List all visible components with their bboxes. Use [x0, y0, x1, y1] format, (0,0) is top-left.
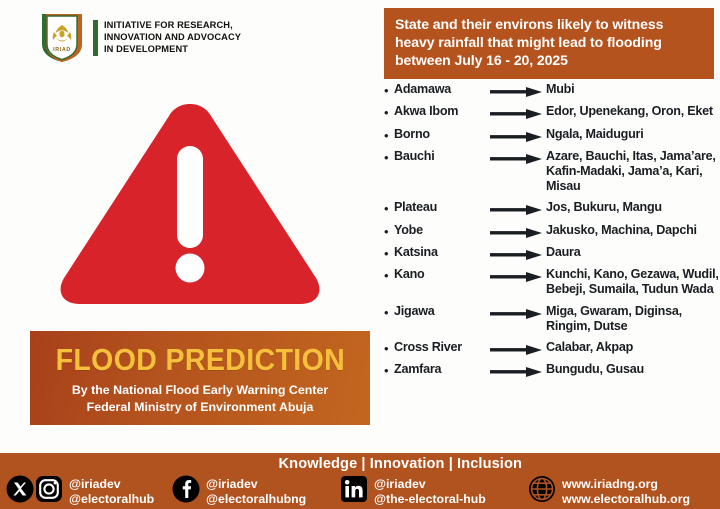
state-name: Zamfara	[394, 362, 490, 377]
social-group[interactable]: @iriadev@the-electoral-hub	[340, 475, 486, 508]
arrow-right-icon	[490, 304, 546, 319]
globe-icon[interactable]	[528, 475, 556, 508]
arrow-right-icon	[490, 200, 546, 215]
town-list: Miga, Gwaram, Diginsa, Ringim, Dutse	[546, 304, 720, 334]
state-row: •AdamawaMubi	[384, 82, 720, 98]
town-list: Azare, Bauchi, Itas, Jama’are, Kafin-Mad…	[546, 149, 720, 194]
social-group[interactable]: @iriadev@electoralhubng	[172, 475, 306, 508]
arrow-right-icon	[490, 149, 546, 164]
state-row: •ZamfaraBungudu, Gusau	[384, 362, 720, 378]
footer-bar: Knowledge | Innovation | Inclusion @iria…	[0, 453, 720, 509]
state-row: •JigawaMiga, Gwaram, Diginsa, Ringim, Du…	[384, 304, 720, 334]
social-handles[interactable]: @iriadev@the-electoral-hub	[374, 477, 486, 507]
social-handles[interactable]: www.iriadng.orgwww.electoralhub.org	[562, 477, 690, 507]
social-icons[interactable]	[528, 475, 556, 508]
state-name: Jigawa	[394, 304, 490, 319]
instagram-icon[interactable]	[35, 475, 63, 508]
state-row: •Cross RiverCalabar, Akpap	[384, 340, 720, 356]
state-name: Cross River	[394, 340, 490, 355]
list-bullet: •	[384, 340, 394, 356]
town-list: Kunchi, Kano, Gezawa, Wudil, Bebeji, Sum…	[546, 267, 720, 297]
warning-illustration	[40, 88, 340, 320]
list-bullet: •	[384, 127, 394, 143]
green-accent-bar	[93, 20, 98, 56]
arrow-right-icon	[490, 223, 546, 238]
brand-header: IRIAD INITIATIVE FOR RESEARCH, INNOVATIO…	[40, 12, 241, 64]
social-handle-primary[interactable]: @iriadev	[206, 477, 306, 492]
social-handle-secondary[interactable]: @electoralhub	[69, 492, 154, 507]
state-row: •Akwa IbomEdor, Upenekang, Oron, Eket	[384, 104, 720, 120]
state-row: •BauchiAzare, Bauchi, Itas, Jama’are, Ka…	[384, 149, 720, 194]
social-handles[interactable]: @iriadev@electoralhub	[69, 477, 154, 507]
social-icons[interactable]	[172, 475, 200, 508]
footer-tagline: Knowledge | Innovation | Inclusion	[279, 456, 522, 472]
list-bullet: •	[384, 104, 394, 120]
list-bullet: •	[384, 362, 394, 378]
svg-text:IRIAD: IRIAD	[53, 47, 71, 53]
town-list: Daura	[546, 245, 720, 260]
arrow-right-icon	[490, 245, 546, 260]
town-list: Edor, Upenekang, Oron, Eket	[546, 104, 720, 119]
social-handle-primary[interactable]: @iriadev	[374, 477, 486, 492]
iriad-shield-logo: IRIAD	[40, 12, 84, 64]
arrow-right-icon	[490, 267, 546, 282]
town-list: Mubi	[546, 82, 720, 97]
state-row: •KanoKunchi, Kano, Gezawa, Wudil, Bebeji…	[384, 267, 720, 297]
town-list: Bungudu, Gusau	[546, 362, 720, 377]
social-handle-primary[interactable]: @iriadev	[69, 477, 154, 492]
state-row: •YobeJakusko, Machina, Dapchi	[384, 223, 720, 239]
state-name: Akwa Ibom	[394, 104, 490, 119]
facebook-icon[interactable]	[172, 475, 200, 508]
state-name: Katsina	[394, 245, 490, 260]
town-list: Jos, Bukuru, Mangu	[546, 200, 720, 215]
arrow-right-icon	[490, 127, 546, 142]
arrow-right-icon	[490, 104, 546, 119]
header-callout-box: State and their environs likely to witne…	[384, 8, 714, 79]
social-group[interactable]: www.iriadng.orgwww.electoralhub.org	[528, 475, 690, 508]
social-icons[interactable]	[6, 475, 63, 508]
left-column: IRIAD INITIATIVE FOR RESEARCH, INNOVATIO…	[0, 0, 378, 452]
town-list: Ngala, Maiduguri	[546, 127, 720, 142]
town-list: Calabar, Akpap	[546, 340, 720, 355]
list-bullet: •	[384, 304, 394, 320]
banner-title: FLOOD PREDICTION	[55, 344, 345, 375]
list-bullet: •	[384, 82, 394, 98]
flood-prediction-banner: FLOOD PREDICTION By the National Flood E…	[30, 331, 370, 425]
brand-line-1: INITIATIVE FOR RESEARCH,	[104, 20, 241, 32]
state-name: Kano	[394, 267, 490, 282]
flood-prediction-infographic: IRIAD INITIATIVE FOR RESEARCH, INNOVATIO…	[0, 0, 720, 509]
state-name: Bauchi	[394, 149, 490, 164]
list-bullet: •	[384, 149, 394, 165]
state-row: •PlateauJos, Bukuru, Mangu	[384, 200, 720, 216]
state-row: •BornoNgala, Maiduguri	[384, 127, 720, 143]
arrow-right-icon	[490, 362, 546, 377]
x-twitter-icon[interactable]	[6, 475, 34, 508]
brand-line-3: IN DEVELOPMENT	[104, 44, 241, 56]
banner-subtitle-line-2: Federal Ministry of Environment Abuja	[72, 399, 328, 415]
social-handles[interactable]: @iriadev@electoralhubng	[206, 477, 306, 507]
brand-line-2: INNOVATION AND ADVOCACY	[104, 32, 241, 44]
brand-text-block: INITIATIVE FOR RESEARCH, INNOVATION AND …	[93, 20, 241, 56]
social-handle-primary[interactable]: www.iriadng.org	[562, 477, 690, 492]
state-town-list: •AdamawaMubi•Akwa IbomEdor, Upenekang, O…	[384, 82, 720, 384]
header-text: State and their environs likely to witne…	[395, 16, 705, 70]
list-bullet: •	[384, 267, 394, 283]
social-links-row: @iriadev@electoralhub@iriadev@electoralh…	[0, 475, 720, 509]
warning-triangle-icon	[54, 98, 326, 310]
state-row: •KatsinaDaura	[384, 245, 720, 261]
social-handle-secondary[interactable]: www.electoralhub.org	[562, 492, 690, 507]
social-icons[interactable]	[340, 475, 368, 508]
list-bullet: •	[384, 200, 394, 216]
social-group[interactable]: @iriadev@electoralhub	[6, 475, 154, 508]
state-name: Adamawa	[394, 82, 490, 97]
state-name: Borno	[394, 127, 490, 142]
arrow-right-icon	[490, 82, 546, 97]
social-handle-secondary[interactable]: @electoralhubng	[206, 492, 306, 507]
linkedin-icon[interactable]	[340, 475, 368, 508]
state-name: Plateau	[394, 200, 490, 215]
right-column: State and their environs likely to witne…	[378, 0, 720, 452]
town-list: Jakusko, Machina, Dapchi	[546, 223, 720, 238]
arrow-right-icon	[490, 340, 546, 355]
list-bullet: •	[384, 223, 394, 239]
state-name: Yobe	[394, 223, 490, 238]
social-handle-secondary[interactable]: @the-electoral-hub	[374, 492, 486, 507]
list-bullet: •	[384, 245, 394, 261]
banner-subtitle-line-1: By the National Flood Early Warning Cent…	[72, 382, 328, 398]
